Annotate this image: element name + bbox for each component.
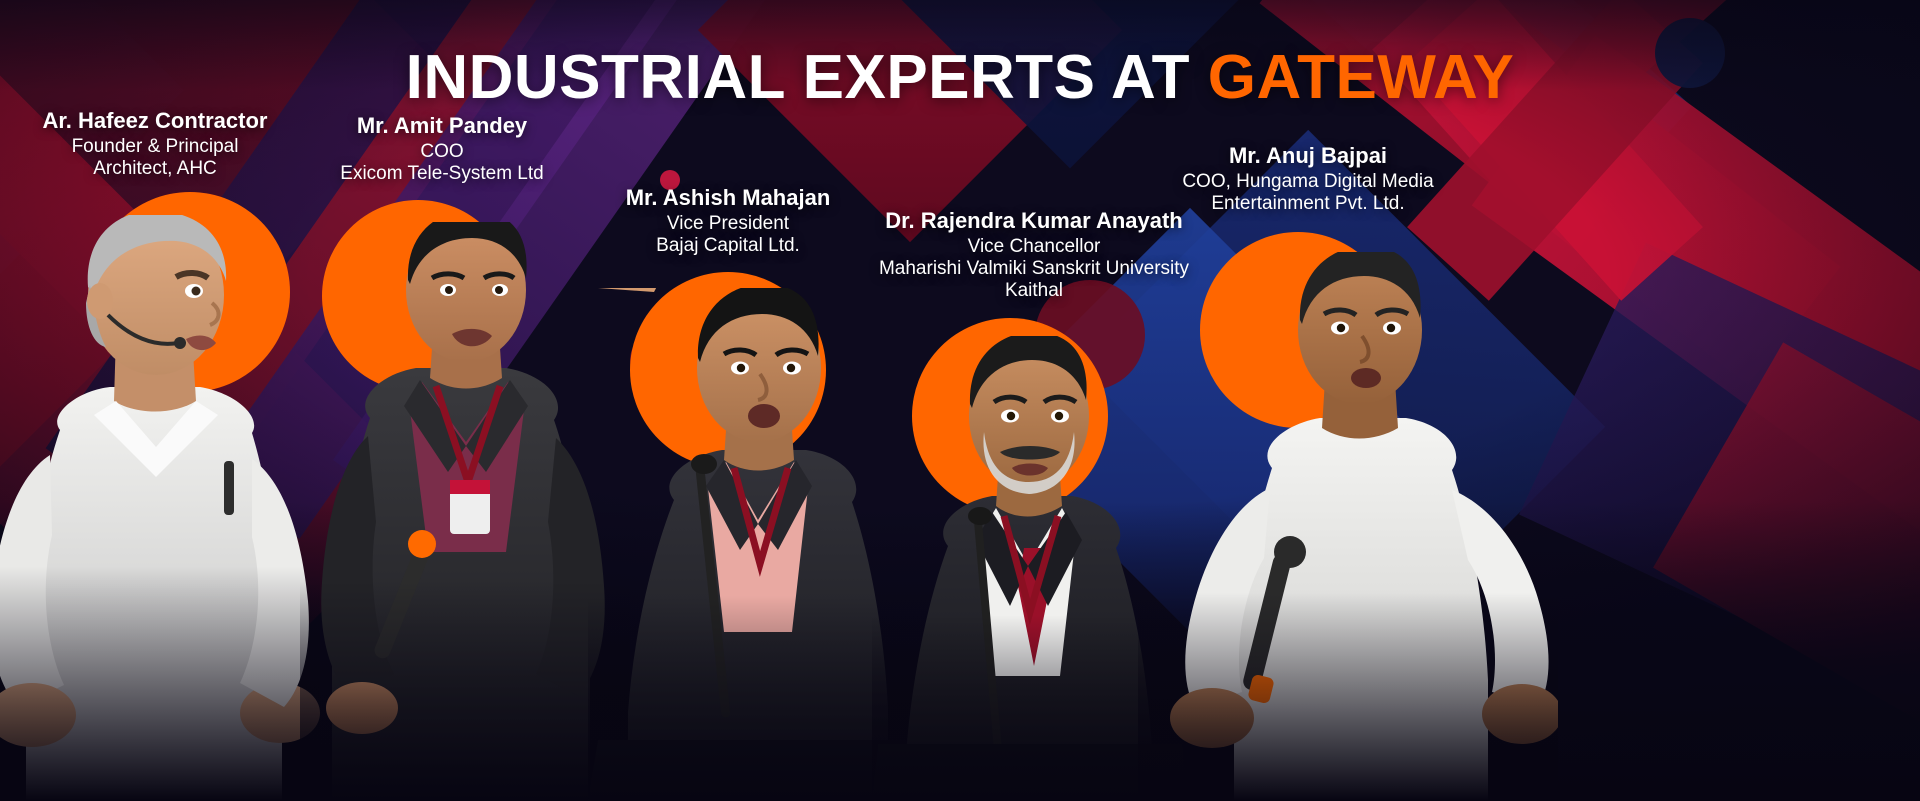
speaker-role-1: COO [296, 141, 588, 163]
portrait-illustration-0 [0, 215, 320, 801]
speaker-role-0: Founder & Principal [0, 136, 320, 158]
portrait-illustration-4 [1138, 252, 1558, 801]
page-title: INDUSTRIAL EXPERTS AT GATEWAY [0, 42, 1920, 113]
speaker-role-2: Vice President [586, 213, 870, 235]
speaker-org-0: Architect, AHC [0, 158, 320, 180]
speaker-org-1: Exicom Tele-System Ltd [296, 163, 588, 185]
speaker-name-4: Mr. Anuj Bajpai [1144, 143, 1472, 169]
speaker-name-1: Mr. Amit Pandey [296, 113, 588, 139]
speaker-portrait-0 [0, 215, 320, 801]
headline-accent: GATEWAY [1208, 43, 1515, 112]
speaker-portrait-1 [300, 222, 630, 801]
event-banner: INDUSTRIAL EXPERTS AT GATEWAY [0, 0, 1920, 801]
speaker-name-2: Mr. Ashish Mahajan [586, 185, 870, 211]
speaker-label-1: Mr. Amit Pandey COO Exicom Tele-System L… [296, 113, 588, 185]
speaker-label-2: Mr. Ashish Mahajan Vice President Bajaj … [586, 185, 870, 257]
portrait-illustration-1 [300, 222, 630, 801]
speaker-org-2: Bajaj Capital Ltd. [586, 235, 870, 257]
speaker-org-4: Entertainment Pvt. Ltd. [1144, 193, 1472, 215]
speaker-role-4: COO, Hungama Digital Media [1144, 171, 1472, 193]
speaker-portrait-4 [1138, 252, 1558, 801]
speaker-label-4: Mr. Anuj Bajpai COO, Hungama Digital Med… [1144, 143, 1472, 215]
speaker-label-0: Ar. Hafeez Contractor Founder & Principa… [0, 108, 320, 180]
headline-main: INDUSTRIAL EXPERTS AT [406, 43, 1208, 112]
